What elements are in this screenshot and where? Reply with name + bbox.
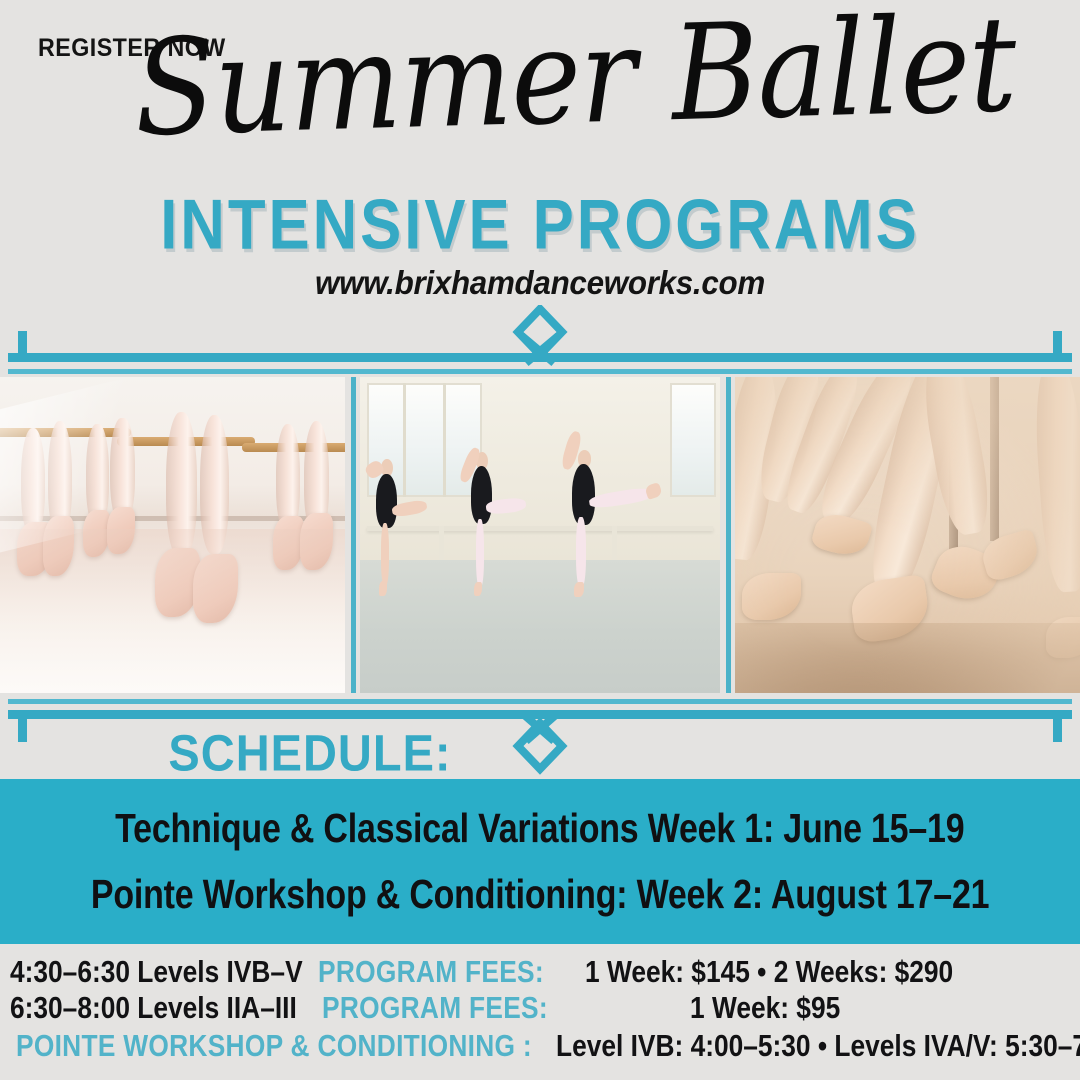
page-title: INTENSIVE PROGRAMS [11, 190, 1069, 261]
photo-cell-2 [360, 377, 720, 693]
fee-label: POINTE WORKSHOP & CONDITIONING : [16, 1028, 532, 1063]
website-url[interactable]: www.brixhamdanceworks.com [27, 264, 1053, 302]
fee-time: 6:30–8:00 Levels IIA–III [10, 990, 297, 1025]
fee-value: 1 Week: $95 [690, 990, 840, 1025]
fee-label: PROGRAM FEES: [318, 954, 544, 989]
fees-footer: 4:30–6:30 Levels IVB–V PROGRAM FEES: 1 W… [0, 944, 1080, 1080]
photo-divider-2 [720, 377, 735, 693]
photo-divider-1 [345, 377, 360, 693]
fee-row: 6:30–8:00 Levels IIA–III PROGRAM FEES: 1… [0, 990, 1080, 1026]
diamond-up-icon [492, 305, 588, 371]
divider-tick-right [1053, 331, 1062, 355]
photo-cell-1 [0, 377, 345, 693]
schedule-band: Technique & Classical Variations Week 1:… [0, 779, 1080, 944]
fee-row: POINTE WORKSHOP & CONDITIONING : Level I… [0, 1028, 1080, 1064]
divider-tick-left [18, 331, 27, 355]
divider-tick-right [1053, 718, 1062, 742]
photo-ballet-slippers-closeup [735, 377, 1080, 693]
divider-thin-line [8, 699, 1072, 704]
photo-pointe-shoes-at-barre [0, 377, 345, 693]
fee-label: PROGRAM FEES: [322, 990, 548, 1025]
fee-row: 4:30–6:30 Levels IVB–V PROGRAM FEES: 1 W… [0, 954, 1080, 990]
divider-top [0, 305, 1080, 373]
photo-cell-3 [735, 377, 1080, 693]
schedule-line-2: Pointe Workshop & Conditioning: Week 2: … [91, 871, 989, 917]
fee-time: 4:30–6:30 Levels IVB–V [10, 954, 303, 989]
photo-strip [0, 377, 1080, 693]
fee-value: Level IVB: 4:00–5:30 • Levels IVA/V: 5:3… [556, 1028, 1080, 1063]
schedule-label: SCHEDULE: [0, 723, 620, 782]
fee-value: 1 Week: $145 • 2 Weeks: $290 [585, 954, 953, 989]
flyer-canvas: REGISTER NOW Summer Ballet INTENSIVE PRO… [0, 0, 1080, 1080]
photo-three-dancers-arabesque [360, 377, 720, 693]
schedule-line-1: Technique & Classical Variations Week 1:… [115, 805, 964, 851]
script-title: Summer Ballet [0, 0, 1080, 158]
